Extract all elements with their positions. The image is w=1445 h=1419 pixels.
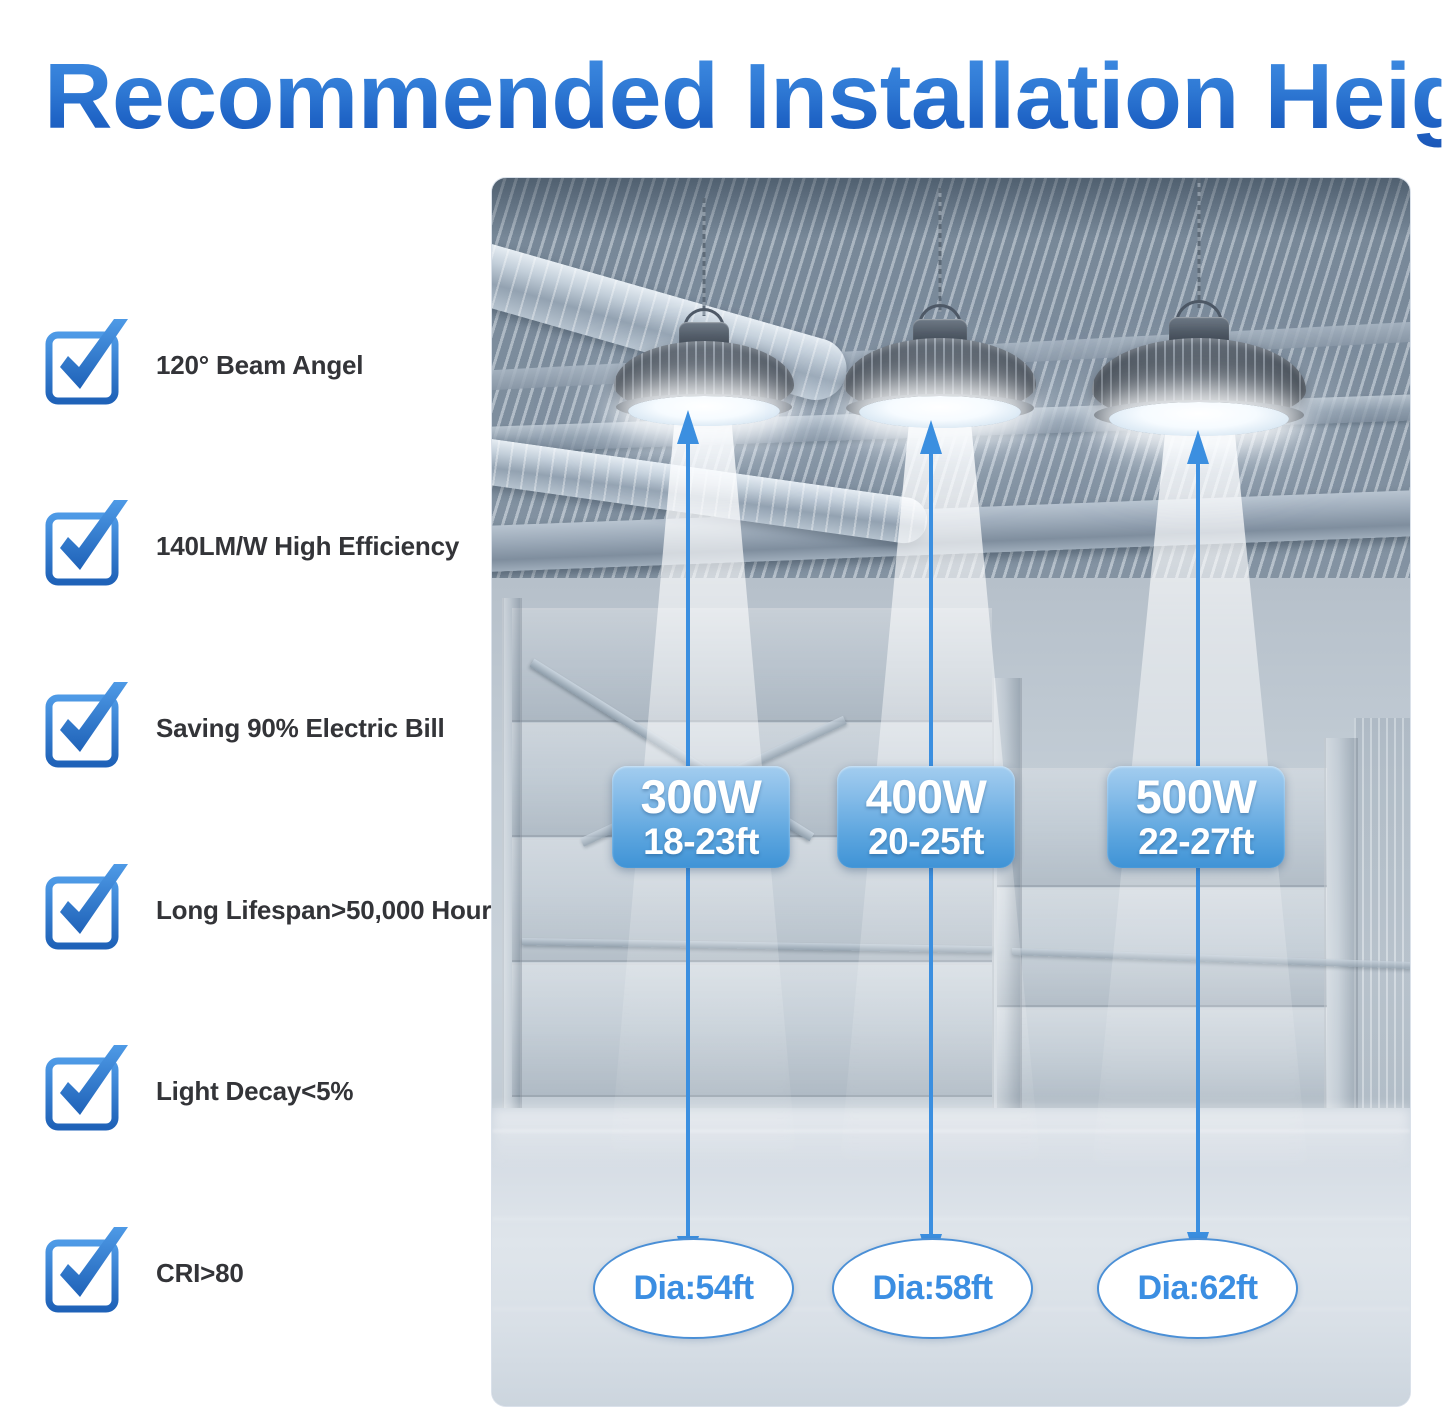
floor-gloss (492, 1108, 1410, 1168)
checkbox-checked-icon (44, 504, 128, 588)
lamp-chain (939, 188, 942, 312)
list-item-label: Saving 90% Electric Bill (156, 713, 445, 744)
diameter-badge: Dia:62ft (1097, 1238, 1298, 1339)
lamp-lens (628, 396, 779, 426)
diameter-label: Dia:58ft (873, 1269, 993, 1308)
list-item-label: Light Decay<5% (156, 1076, 353, 1107)
height-range-value: 18-23ft (643, 822, 759, 862)
checkbox-checked-icon (44, 686, 128, 770)
height-range-value: 22-27ft (1138, 822, 1254, 862)
list-item: Light Decay<5% (44, 1049, 353, 1133)
list-item-label: 120° Beam Angel (156, 350, 363, 381)
checkbox-checked-icon (44, 1231, 128, 1315)
wattage-value: 500W (1136, 772, 1257, 822)
checkbox-checked-icon (44, 1049, 128, 1133)
wattage-badge: 300W 18-23ft (612, 766, 790, 868)
wattage-value: 300W (641, 772, 762, 822)
list-item-label: Long Lifespan>50,000 Hours (156, 895, 506, 926)
high-bay-lamp (1092, 178, 1306, 433)
infographic-page: Recommended Installation Height 120° Bea… (0, 0, 1445, 1419)
wall-panel (997, 1008, 1327, 1112)
wattage-value: 400W (866, 772, 987, 822)
arrow-head-up-icon (920, 420, 942, 454)
arrow-head-up-icon (677, 410, 699, 444)
feature-list: 120° Beam Angel 140LM/W High Efficiency … (0, 0, 492, 1419)
wall-column (502, 598, 522, 1108)
lamp-chain (1198, 178, 1201, 308)
list-item-label: 140LM/W High Efficiency (156, 531, 459, 562)
diameter-label: Dia:62ft (1138, 1269, 1258, 1308)
list-item: 120° Beam Angel (44, 323, 363, 407)
high-bay-lamp (614, 198, 794, 428)
height-range-value: 20-25ft (868, 822, 984, 862)
wattage-badge: 400W 20-25ft (837, 766, 1015, 868)
diameter-label: Dia:54ft (634, 1269, 754, 1308)
list-item: Saving 90% Electric Bill (44, 686, 445, 770)
corrugated-wall (1354, 718, 1410, 1108)
floor-reflection-line (492, 1130, 1410, 1132)
list-item: CRI>80 (44, 1231, 244, 1315)
list-item-label: CRI>80 (156, 1258, 244, 1289)
diameter-badge: Dia:58ft (832, 1238, 1033, 1339)
list-item: 140LM/W High Efficiency (44, 504, 459, 588)
diameter-badge: Dia:54ft (593, 1238, 794, 1339)
warehouse-photo: 300W 18-23ft 400W 20-25ft 500W 22-27ft D… (492, 178, 1410, 1406)
wall-column (992, 678, 1022, 1108)
checkbox-checked-icon (44, 868, 128, 952)
wattage-badge: 500W 22-27ft (1107, 766, 1285, 868)
high-bay-lamp (844, 188, 1036, 428)
list-item: Long Lifespan>50,000 Hours (44, 868, 506, 952)
wall-column (1324, 738, 1358, 1108)
checkbox-checked-icon (44, 323, 128, 407)
floor-reflection-line (492, 1218, 1410, 1220)
arrow-head-up-icon (1187, 430, 1209, 464)
wall-panel (997, 888, 1327, 1007)
lamp-chain (703, 198, 706, 316)
